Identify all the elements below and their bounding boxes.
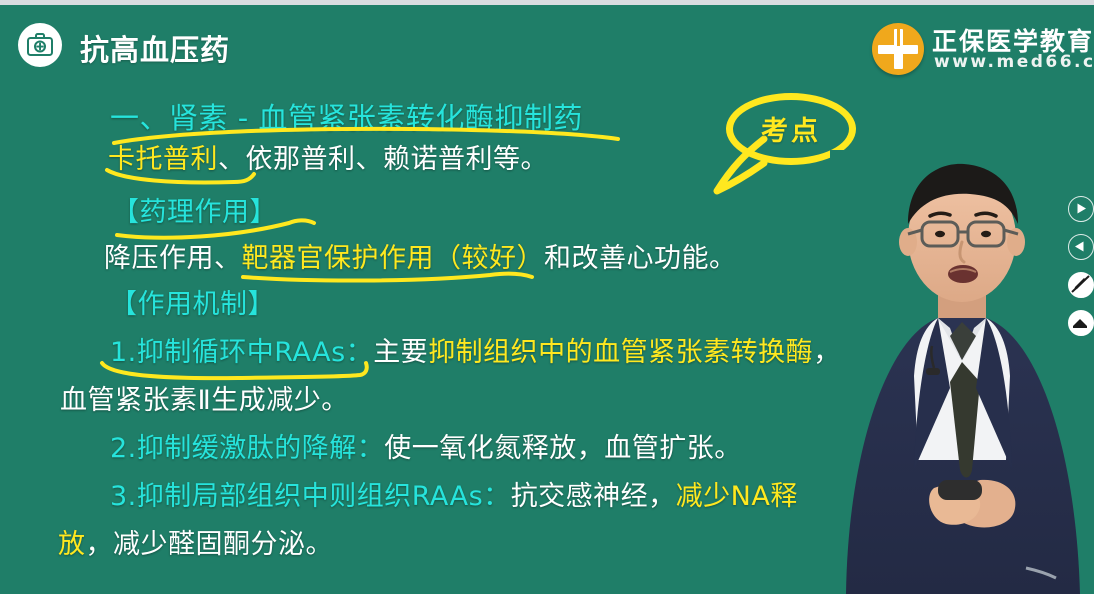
- text-segment: 、依那普利、赖诺普利等。: [218, 144, 548, 175]
- text-segment: 主要: [373, 337, 428, 368]
- underline-stroke-pharm-action-body: [240, 263, 540, 269]
- text-line-mechanism-1b: 血管紧张素Ⅱ生成减少。: [60, 378, 349, 417]
- text-line-mechanism-3a: 3.抑制局部组织中则组织RAAs：抗交感神经，减少NA释: [110, 474, 798, 513]
- text-segment: 放: [58, 529, 86, 560]
- text-segment: 抗交感神经，: [511, 481, 676, 512]
- text-line-mechanism-3b: 放，减少醛固酮分泌。: [58, 522, 333, 561]
- callout-label: 考点: [726, 109, 856, 148]
- underline-stroke-pharm-action: [114, 217, 324, 223]
- underline-stroke-mechanism-1a: [98, 357, 378, 363]
- player-controls[interactable]: [1068, 196, 1094, 348]
- text-segment: 降压作用、: [104, 243, 242, 274]
- text-segment: 抑制组织中的血管紧张素转换酶: [428, 337, 813, 368]
- site-logo: 正保医学教育网 www.med66.com: [872, 19, 1082, 81]
- play-icon[interactable]: [1068, 196, 1094, 222]
- underline-stroke-heading-1: [112, 125, 622, 131]
- slide-header: 抗高血压药 正保医学教育网 www.med66.com: [0, 5, 1094, 81]
- text-segment: 血管紧张素Ⅱ生成减少。: [60, 385, 349, 416]
- eraser-icon[interactable]: [1068, 310, 1094, 336]
- text-line-mechanism-2: 2.抑制缓激肽的降解：使一氧化氮释放，血管扩张。: [110, 426, 742, 465]
- text-segment: 2.抑制缓激肽的降解：: [110, 433, 384, 464]
- lecture-slide-screen: 抗高血压药 正保医学教育网 www.med66.com 一、肾素 - 血管紧张素…: [0, 0, 1094, 594]
- text-segment: 和改善心功能。: [544, 243, 737, 274]
- page-title: 抗高血压药: [80, 27, 230, 69]
- previous-icon[interactable]: [1068, 234, 1094, 260]
- medical-briefcase-icon: [18, 23, 62, 67]
- pen-icon[interactable]: [1068, 272, 1094, 298]
- logo-url: www.med66.com: [934, 52, 1094, 72]
- text-segment: 使一氧化氮释放，血管扩张。: [384, 433, 742, 464]
- text-segment: 减少NA释: [676, 481, 798, 512]
- presenter-video: [830, 150, 1094, 594]
- underline-stroke-drug-list: [104, 164, 264, 170]
- text-segment: ，减少醛固酮分泌。: [86, 529, 334, 560]
- text-segment: 3.抑制局部组织中则组织RAAs：: [110, 481, 511, 512]
- text-segment: 【作用机制】: [110, 289, 275, 320]
- text-line-section-mechanism: 【作用机制】: [110, 282, 275, 321]
- orange-cross-logo-icon: [872, 23, 924, 75]
